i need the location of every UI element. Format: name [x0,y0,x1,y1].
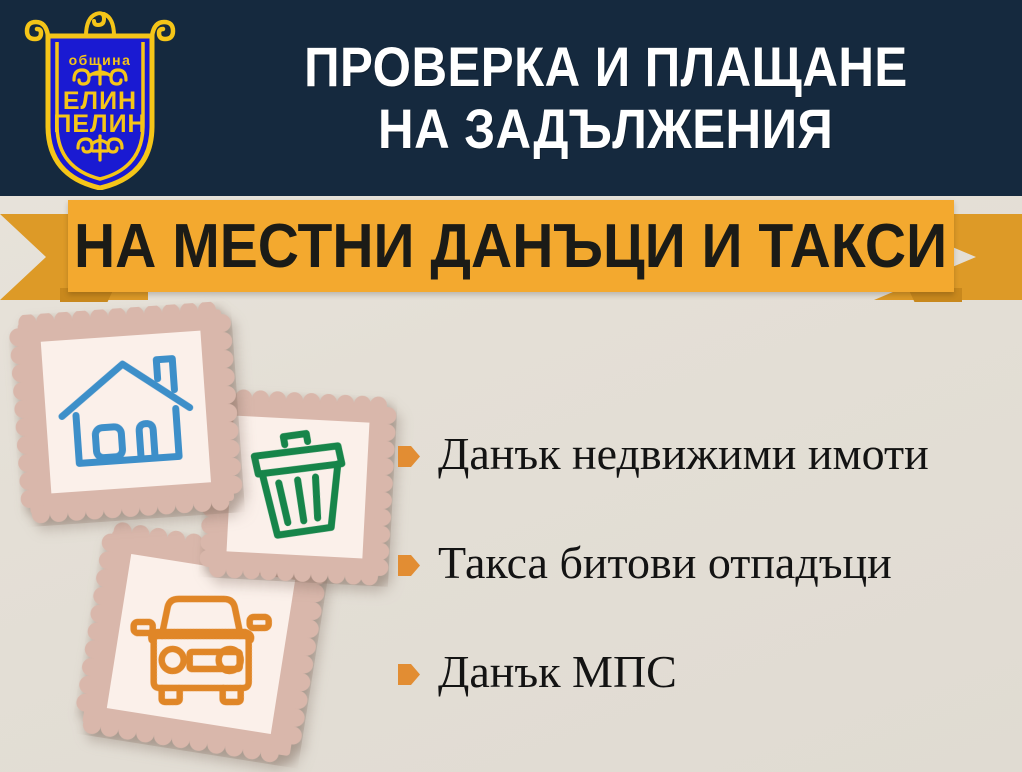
header-bar: община ЕЛИН ПЕЛИН [0,0,1022,196]
stamp-card-house [7,300,245,527]
subtitle-ribbon: НА МЕСТНИ ДАНЪЦИ И ТАКСИ [0,196,1022,308]
poster-title: ПРОВЕРКА И ПЛАЩАНЕ НА ЗАДЪЛЖЕНИЯ [190,0,1022,196]
list-item[interactable]: Данък недвижими имоти [398,424,1012,484]
pentagon-arrow-icon [398,553,420,578]
title-line-1: ПРОВЕРКА И ПЛАЩАНЕ [304,36,908,98]
pentagon-arrow-icon [398,662,420,687]
municipality-crest-logo: община ЕЛИН ПЕЛИН [24,8,176,190]
list-item-label: Данък МПС [438,649,677,695]
ribbon-label: НА МЕСТНИ ДАНЪЦИ И ТАКСИ [74,211,947,282]
ribbon-body: НА МЕСТНИ ДАНЪЦИ И ТАКСИ [68,200,954,292]
list-item-label: Данък недвижими имоти [438,431,929,477]
service-list: Данък недвижими имоти Такса битови отпад… [398,424,1012,751]
svg-text:ПЕЛИН: ПЕЛИН [53,110,146,138]
list-item[interactable]: Такса битови отпадъци [398,533,1012,593]
poster-canvas: община ЕЛИН ПЕЛИН [0,0,1022,772]
list-item[interactable]: Данък МПС [398,642,1012,702]
list-item-label: Такса битови отпадъци [438,540,892,586]
crest-icon: община ЕЛИН ПЕЛИН [24,8,176,190]
title-line-2: НА ЗАДЪЛЖЕНИЯ [378,98,833,160]
pentagon-arrow-icon [398,444,420,469]
stamp-house-graphic [7,300,245,527]
